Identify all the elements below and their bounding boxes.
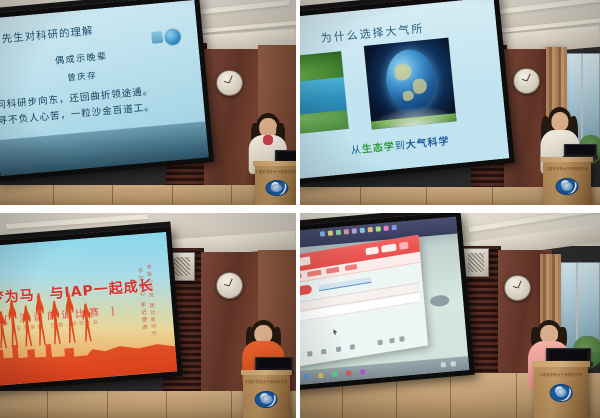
projected-slide: 不忘初心 牢记使命 青春心向党 建功新时代 以梦为马，与IAP一起成长 [ 演讲… <box>0 231 178 385</box>
slide-caption: 从生态学到大气科学 <box>350 132 450 157</box>
collage-gutter-horizontal <box>0 205 600 213</box>
ecosystem-illustration <box>300 51 349 136</box>
browser-window-screenshot <box>300 217 469 386</box>
collage-panel-top-right[interactable]: 为什么选择大气所 从生态学到大气科学 <box>300 0 600 205</box>
lecture-room-background: 曾先生对科研的理解 偶成示晚辈 曾庆存 欲问科研步向东，还回曲折领途通。 深寻不… <box>0 0 296 205</box>
mouse-cursor-icon <box>334 329 338 336</box>
globe-logo-icon <box>164 28 181 45</box>
podium: 中国科学院大气物理研究所 <box>543 160 591 205</box>
photo-collage: 曾先生对科研的理解 偶成示晚辈 曾庆存 欲问科研步向东，还回曲折领途通。 深寻不… <box>0 0 600 418</box>
wall-clock-icon <box>513 68 540 95</box>
institute-emblem-icon <box>265 180 288 196</box>
projected-slide: 曾先生对科研的理解 偶成示晚辈 曾庆存 欲问科研步向东，还回曲折领途通。 深寻不… <box>0 0 209 176</box>
institute-emblem-icon <box>255 391 278 408</box>
podium-label: 中国科学院大气物理研究所 <box>255 169 296 174</box>
screen-glare <box>429 295 449 307</box>
wall-wainscot <box>0 185 296 206</box>
collage-panel-bottom-left[interactable]: 不忘初心 牢记使命 青春心向党 建功新时代 以梦为马，与IAP一起成长 [ 演讲… <box>0 213 296 418</box>
projected-slide <box>300 217 469 386</box>
footer-toolbar[interactable] <box>300 332 414 360</box>
slide-title: 曾先生对科研的理解 <box>0 23 94 47</box>
podium: 中国科学院大气物理研究所 <box>243 373 290 418</box>
jumping-silhouettes-graphic <box>0 281 112 349</box>
podium-label: 中国科学院大气物理研究所 <box>243 379 290 384</box>
projection-screen: 不忘初心 牢记使命 青春心向党 建功新时代 以梦为马，与IAP一起成长 [ 演讲… <box>0 226 183 391</box>
primary-action-button[interactable] <box>300 285 312 298</box>
podium: 中国科学院大气物理研究所 <box>255 164 296 205</box>
lecture-room-background: 不忘初心 牢记使命 青春心向党 建功新时代 以梦为马，与IAP一起成长 [ 演讲… <box>0 213 296 418</box>
earth-globe-illustration <box>364 37 457 129</box>
projection-screen: 为什么选择大气所 从生态学到大气科学 <box>300 0 515 185</box>
poem-author: 曾庆存 <box>67 69 98 84</box>
poem-title: 偶成示晚辈 <box>55 49 108 67</box>
lecture-room-background: 为什么选择大气所 从生态学到大气科学 <box>300 0 600 205</box>
projected-slide: 为什么选择大气所 从生态学到大气科学 <box>300 0 509 179</box>
projection-screen <box>300 213 475 391</box>
wall-clock-icon <box>216 70 243 97</box>
institute-emblem-icon <box>555 178 578 195</box>
podium-label: 中国科学院大气物理研究所 <box>534 372 588 377</box>
wall-clock-icon <box>216 272 243 299</box>
ceiling-speaker-icon <box>462 248 489 277</box>
podium: 中国科学院大气物理研究所 <box>534 365 588 418</box>
search-input[interactable] <box>319 277 372 291</box>
lecture-room-background: 中国科学院大气物理研究所 <box>300 213 600 418</box>
browser-window[interactable] <box>300 235 428 368</box>
app-logo-icon <box>300 257 311 269</box>
collage-panel-top-left[interactable]: 曾先生对科研的理解 偶成示晚辈 曾庆存 欲问科研步向东，还回曲折领途通。 深寻不… <box>0 0 296 205</box>
collage-panel-bottom-right[interactable]: 中国科学院大气物理研究所 <box>300 213 600 418</box>
projection-screen: 曾先生对科研的理解 偶成示晚辈 曾庆存 欲问科研步向东，还回曲折领途通。 深寻不… <box>0 0 214 182</box>
wall-clock-icon <box>504 275 531 302</box>
podium-label: 中国科学院大气物理研究所 <box>543 166 591 171</box>
institute-logo-icon <box>151 32 163 45</box>
institute-emblem-icon <box>550 384 573 402</box>
